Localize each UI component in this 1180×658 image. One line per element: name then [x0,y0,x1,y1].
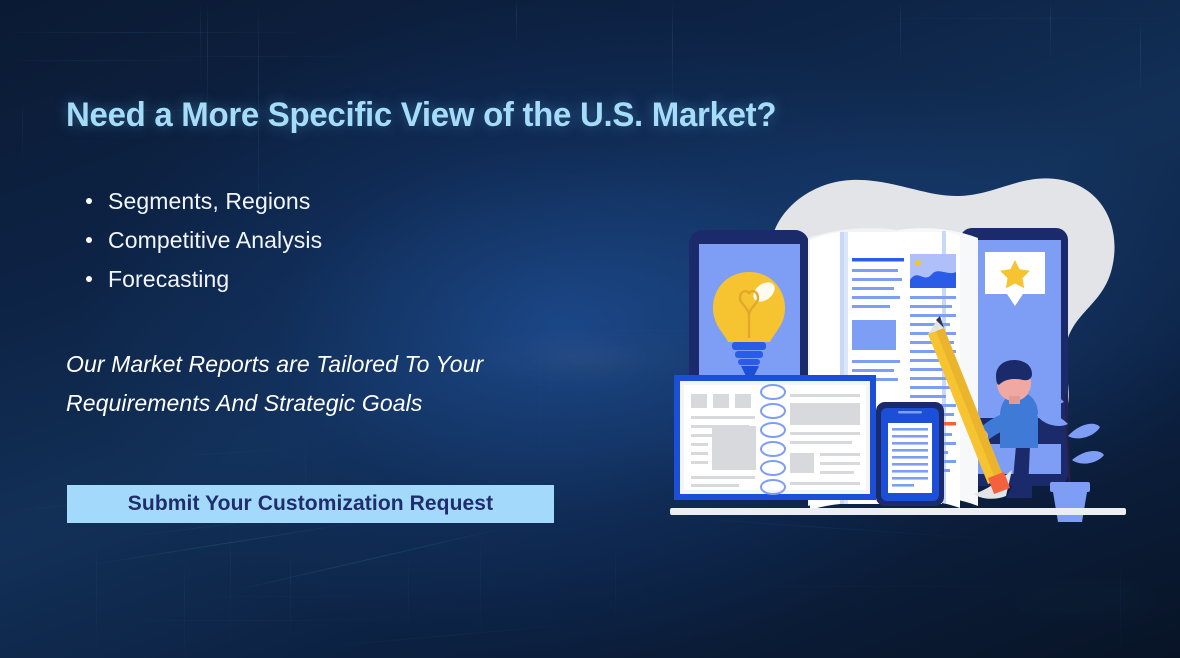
tagline-line-2: Requirements And Strategic Goals [66,384,606,423]
floor-line [670,508,1126,515]
list-item: Segments, Regions [86,188,322,227]
market-research-illustration [660,170,1140,530]
list-item: Forecasting [86,266,322,305]
feature-list: Segments, Regions Competitive Analysis F… [86,188,322,305]
banner-copy: Need a More Specific View of the U.S. Ma… [0,0,660,658]
cta-button-label: Submit Your Customization Request [128,492,493,516]
smartphone-document [876,402,944,506]
bullet-dot-icon [86,237,92,243]
promo-banner: Need a More Specific View of the U.S. Ma… [0,0,1180,658]
spiral-notebook [674,375,876,500]
list-item-label: Forecasting [108,266,229,293]
bullet-dot-icon [86,276,92,282]
submit-customization-request-button[interactable]: Submit Your Customization Request [67,485,554,523]
tagline-line-1: Our Market Reports are Tailored To Your [66,345,606,384]
list-item: Competitive Analysis [86,227,322,266]
list-item-label: Segments, Regions [108,188,310,215]
tagline: Our Market Reports are Tailored To Your … [66,345,606,423]
bullet-dot-icon [86,198,92,204]
list-item-label: Competitive Analysis [108,227,322,254]
page-title: Need a More Specific View of the U.S. Ma… [66,96,776,135]
book-image-thumbnail [910,254,956,288]
